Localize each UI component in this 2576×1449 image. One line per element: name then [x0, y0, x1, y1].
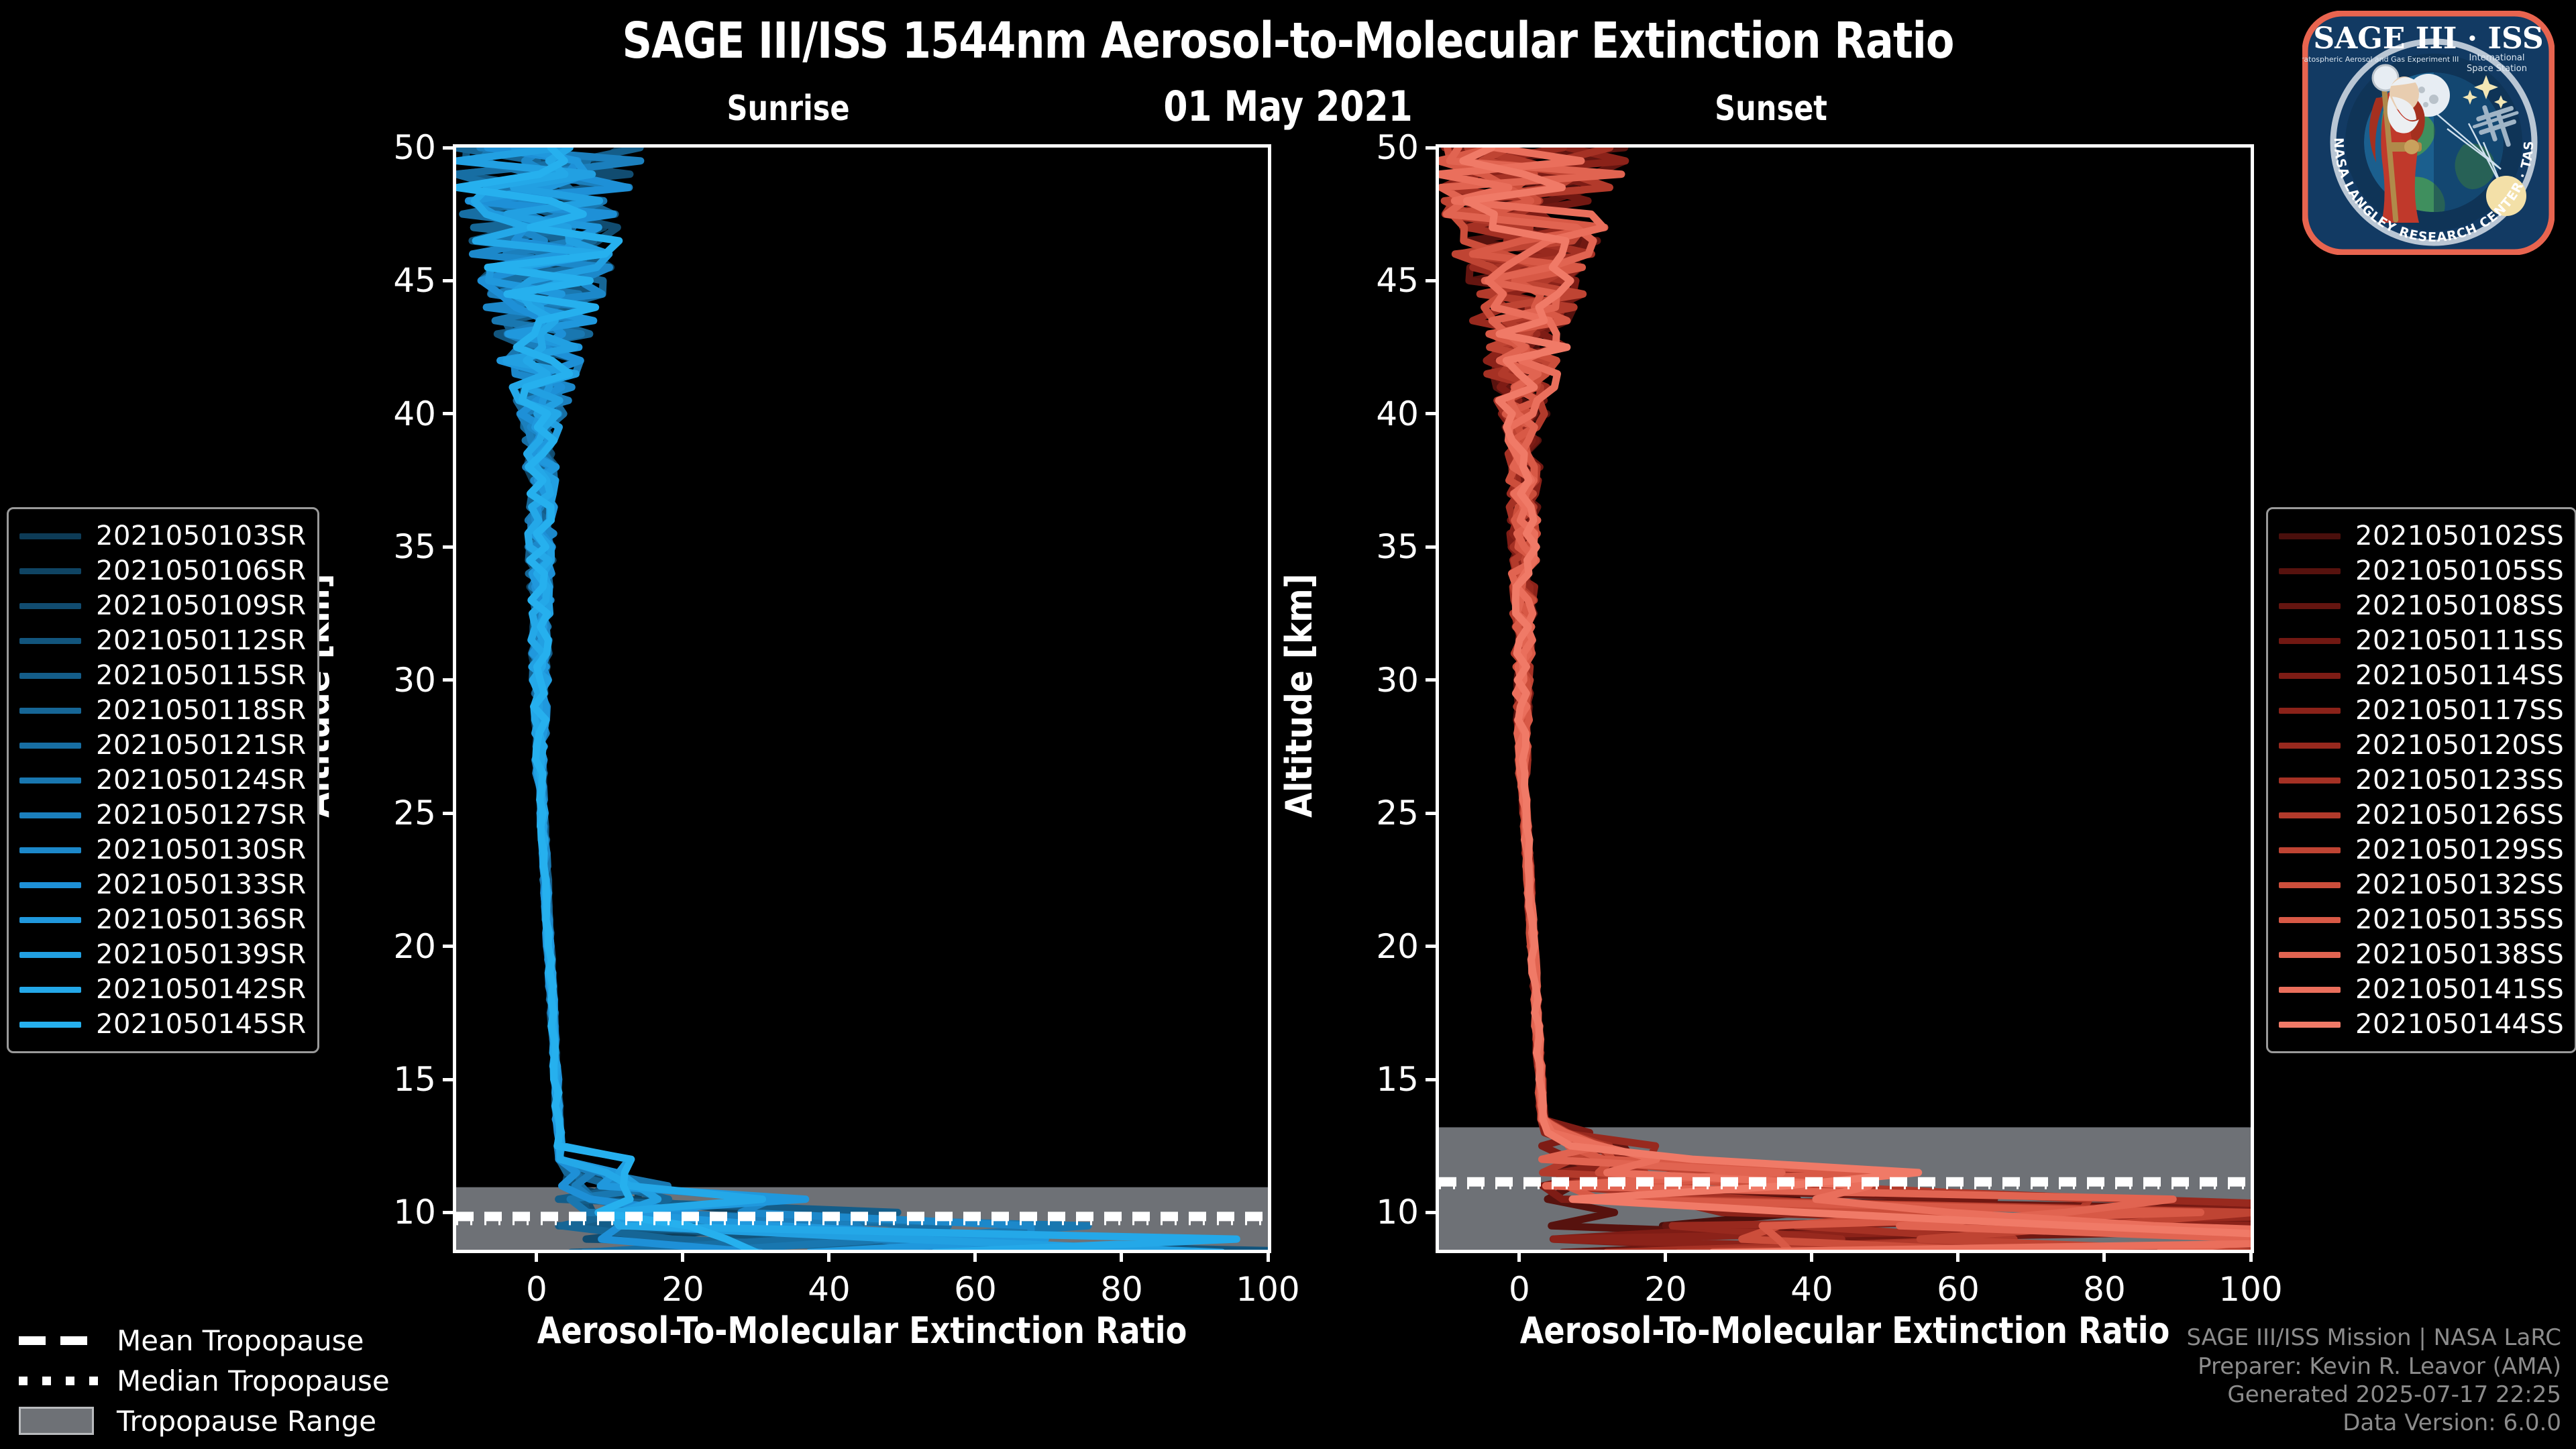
legend-color-swatch [2279, 743, 2341, 749]
y-tick-label-10: 10 [349, 1193, 436, 1232]
legend-color-swatch [19, 603, 81, 609]
y-tick-label-25: 25 [349, 794, 436, 833]
y-tick-mark [443, 412, 455, 415]
legend-item[interactable]: 2021050135SS [2279, 902, 2564, 937]
legend-series-label: 2021050142SR [96, 974, 307, 1005]
legend-series-label: 2021050103SR [96, 521, 307, 551]
legend-color-swatch [19, 777, 81, 784]
tropopause-range-label: Tropopause Range [117, 1405, 376, 1438]
y-tick-label-45: 45 [349, 261, 436, 300]
legend-item[interactable]: 2021050139SR [19, 937, 307, 972]
x-tick-mark [1664, 1250, 1667, 1262]
y-tick-mark [443, 1078, 455, 1081]
legend-color-swatch [2279, 882, 2341, 888]
x-tick-mark [1810, 1250, 1813, 1262]
legend-item[interactable]: 2021050136SR [19, 902, 307, 937]
legend-series-label: 2021050139SR [96, 939, 307, 970]
profile-line [1462, 148, 2251, 1250]
profile-line [1439, 148, 2201, 1250]
legend-series-label: 2021050133SR [96, 869, 307, 900]
legend-color-swatch [2279, 603, 2341, 609]
x-tick-mark [1267, 1250, 1270, 1262]
y-tick-label-15: 15 [349, 1060, 436, 1099]
patch-subtitle-right-line1: International [2469, 53, 2525, 63]
credits-generated: Generated 2025-07-17 22:25 [2186, 1381, 2561, 1409]
legend-item-median-tropopause: Median Tropopause [19, 1360, 390, 1401]
page-title: SAGE III/ISS 1544nm Aerosol-to-Molecular… [90, 12, 2485, 70]
legend-series-label: 2021050126SS [2355, 800, 2564, 830]
legend-series-label: 2021050118SR [96, 695, 307, 726]
legend-color-swatch [2279, 917, 2341, 923]
legend-series-label: 2021050115SR [96, 660, 307, 691]
x-tick-mark [681, 1250, 684, 1262]
y-tick-label-50: 50 [1332, 128, 1419, 167]
legend-series-label: 2021050144SS [2355, 1009, 2564, 1040]
sunset-plot-canvas [1439, 148, 2251, 1250]
patch-subtitle-right-line2: Space Station [2467, 64, 2527, 74]
legend-series-label: 2021050132SS [2355, 869, 2564, 900]
legend-item[interactable]: 2021050145SR [19, 1007, 307, 1042]
legend-color-swatch [19, 533, 81, 539]
y-tick-mark [443, 279, 455, 282]
legend-color-swatch [19, 847, 81, 853]
x-tick-label-100: 100 [1236, 1270, 1299, 1309]
credits-mission: SAGE III/ISS Mission | NASA LaRC [2186, 1324, 2561, 1352]
y-tick-label-35: 35 [1332, 527, 1419, 566]
legend-series-label: 2021050120SS [2355, 730, 2564, 761]
y-tick-mark [443, 945, 455, 948]
y-tick-label-15: 15 [1332, 1060, 1419, 1099]
legend-series-label: 2021050123SS [2355, 765, 2564, 796]
y-tick-mark [1426, 412, 1438, 415]
legend-item[interactable]: 2021050103SR [19, 519, 307, 553]
legend-item[interactable]: 2021050115SR [19, 658, 307, 693]
legend-color-swatch [2279, 708, 2341, 714]
legend-series-label: 2021050114SS [2355, 660, 2564, 691]
legend-item[interactable]: 2021050108SS [2279, 588, 2564, 623]
x-tick-mark [1120, 1250, 1123, 1262]
legend-item[interactable]: 2021050132SS [2279, 867, 2564, 902]
sunrise-x-axis-title: Aerosol-To-Molecular Extinction Ratio [474, 1309, 1251, 1352]
legend-series-label: 2021050106SR [96, 555, 307, 586]
y-tick-label-30: 30 [349, 661, 436, 700]
median-tropopause-label: Median Tropopause [117, 1364, 390, 1397]
x-tick-label-80: 80 [2083, 1270, 2126, 1309]
sunset-plot-area [1436, 144, 2254, 1253]
legend-item[interactable]: 2021050109SR [19, 588, 307, 623]
legend-item[interactable]: 2021050129SS [2279, 833, 2564, 867]
x-tick-label-20: 20 [1644, 1270, 1687, 1309]
tropopause-legend: Mean Tropopause Median Tropopause Tropop… [19, 1320, 390, 1441]
legend-item[interactable]: 2021050133SR [19, 867, 307, 902]
y-tick-mark [1426, 545, 1438, 549]
legend-color-swatch [19, 987, 81, 993]
legend-color-swatch [19, 1022, 81, 1028]
patch-title: SAGE III · ISS [2313, 21, 2543, 56]
legend-series-label: 2021050124SR [96, 765, 307, 796]
y-tick-label-30: 30 [1332, 661, 1419, 700]
profile-line [1463, 148, 2251, 1250]
x-tick-label-0: 0 [526, 1270, 547, 1309]
legend-series-label: 2021050130SR [96, 835, 307, 865]
patch-subtitle-left: Stratospheric Aerosol and Gas Experiment… [2302, 55, 2459, 64]
credits-block: SAGE III/ISS Mission | NASA LaRC Prepare… [2186, 1324, 2561, 1437]
legend-item[interactable]: 2021050117SS [2279, 693, 2564, 728]
y-tick-label-25: 25 [1332, 794, 1419, 833]
credits-data-version: Data Version: 6.0.0 [2186, 1409, 2561, 1437]
x-tick-label-60: 60 [954, 1270, 997, 1309]
legend-item[interactable]: 2021050124SR [19, 763, 307, 798]
x-tick-label-60: 60 [1937, 1270, 1980, 1309]
filled-box-icon [19, 1409, 99, 1432]
legend-item[interactable]: 2021050114SS [2279, 658, 2564, 693]
legend-color-swatch [2279, 638, 2341, 644]
sunrise-plot-canvas [456, 148, 1268, 1250]
x-tick-mark [1517, 1250, 1521, 1262]
profile-line [1458, 148, 2251, 1250]
legend-item[interactable]: 2021050142SR [19, 972, 307, 1007]
legend-series-label: 2021050141SS [2355, 974, 2564, 1005]
legend-color-swatch [19, 743, 81, 749]
sunset-panel-title: Sunset [1586, 89, 1956, 129]
legend-color-swatch [19, 638, 81, 644]
profile-line [1468, 148, 2251, 1250]
legend-series-label: 2021050108SS [2355, 590, 2564, 621]
legend-item[interactable]: 2021050118SR [19, 693, 307, 728]
y-tick-mark [1426, 678, 1438, 682]
y-tick-label-20: 20 [349, 927, 436, 966]
x-tick-label-0: 0 [1509, 1270, 1530, 1309]
legend-item-tropopause-range: Tropopause Range [19, 1401, 390, 1441]
x-tick-mark [2249, 1250, 2253, 1262]
x-tick-label-100: 100 [2218, 1270, 2282, 1309]
y-tick-mark [443, 678, 455, 682]
legend-color-swatch [2279, 812, 2341, 818]
legend-color-swatch [2279, 673, 2341, 679]
y-tick-mark [1426, 812, 1438, 815]
legend-color-swatch [19, 673, 81, 679]
x-tick-label-80: 80 [1100, 1270, 1143, 1309]
y-tick-mark [443, 146, 455, 150]
legend-item[interactable]: 2021050138SS [2279, 937, 2564, 972]
mean-tropopause-label: Mean Tropopause [117, 1324, 364, 1357]
y-tick-label-20: 20 [1332, 927, 1419, 966]
legend-color-swatch [19, 917, 81, 923]
legend-color-swatch [19, 882, 81, 888]
y-tick-label-50: 50 [349, 128, 436, 167]
x-tick-mark [973, 1250, 977, 1262]
x-tick-label-40: 40 [808, 1270, 851, 1309]
x-tick-label-20: 20 [661, 1270, 704, 1309]
legend-item[interactable]: 2021050102SS [2279, 519, 2564, 553]
legend-series-label: 2021050117SS [2355, 695, 2564, 726]
legend-color-swatch [2279, 1022, 2341, 1028]
date-subtitle: 01 May 2021 [90, 82, 2485, 131]
y-tick-mark [1426, 1211, 1438, 1214]
legend-color-swatch [19, 708, 81, 714]
legend-series-label: 2021050127SR [96, 800, 307, 830]
x-tick-label-40: 40 [1790, 1270, 1833, 1309]
legend-color-swatch [19, 812, 81, 818]
sage-iii-iss-mission-patch-logo: SAGE III · ISS Stratospheric Aerosol and… [2302, 11, 2555, 255]
legend-series-label: 2021050112SR [96, 625, 307, 656]
sunset-series-legend[interactable]: 2021050102SS2021050105SS2021050108SS2021… [2266, 507, 2576, 1053]
x-tick-mark [827, 1250, 830, 1262]
sunrise-plot-area [453, 144, 1271, 1253]
y-tick-mark [1426, 1078, 1438, 1081]
sunrise-series-legend[interactable]: 2021050103SR2021050106SR2021050109SR2021… [7, 507, 319, 1053]
x-tick-mark [535, 1250, 538, 1262]
dashed-line-icon [19, 1329, 99, 1352]
sunset-x-axis-title: Aerosol-To-Molecular Extinction Ratio [1456, 1309, 2234, 1352]
legend-color-swatch [2279, 533, 2341, 539]
legend-item[interactable]: 2021050112SR [19, 623, 307, 658]
y-tick-mark [443, 812, 455, 815]
legend-item[interactable]: 2021050120SS [2279, 728, 2564, 763]
legend-series-label: 2021050109SR [96, 590, 307, 621]
legend-item[interactable]: 2021050126SS [2279, 798, 2564, 833]
profile-line [481, 148, 1268, 1250]
legend-series-label: 2021050121SR [96, 730, 307, 761]
legend-series-label: 2021050129SS [2355, 835, 2564, 865]
legend-color-swatch [2279, 952, 2341, 958]
legend-series-label: 2021050136SR [96, 904, 307, 935]
y-tick-mark [443, 1211, 455, 1214]
profile-line [474, 148, 1236, 1250]
credits-preparer: Preparer: Kevin R. Leavor (AMA) [2186, 1352, 2561, 1381]
legend-color-swatch [19, 568, 81, 574]
y-tick-mark [443, 545, 455, 549]
y-tick-mark [1426, 279, 1438, 282]
legend-color-swatch [19, 952, 81, 958]
legend-item[interactable]: 2021050106SR [19, 553, 307, 588]
legend-series-label: 2021050111SS [2355, 625, 2564, 656]
x-tick-mark [1956, 1250, 1960, 1262]
legend-color-swatch [2279, 568, 2341, 574]
legend-item[interactable]: 2021050121SR [19, 728, 307, 763]
y-tick-label-35: 35 [349, 527, 436, 566]
legend-series-label: 2021050138SS [2355, 939, 2564, 970]
y-tick-label-40: 40 [1332, 394, 1419, 433]
legend-item-mean-tropopause: Mean Tropopause [19, 1320, 390, 1360]
y-tick-label-10: 10 [1332, 1193, 1419, 1232]
x-tick-mark [2102, 1250, 2106, 1262]
y-tick-label-45: 45 [1332, 261, 1419, 300]
legend-item[interactable]: 2021050141SS [2279, 972, 2564, 1007]
legend-item[interactable]: 2021050111SS [2279, 623, 2564, 658]
legend-series-label: 2021050105SS [2355, 555, 2564, 586]
legend-color-swatch [2279, 777, 2341, 784]
sunset-y-axis-title: Altitude [km] [1278, 574, 1320, 818]
legend-color-swatch [2279, 987, 2341, 993]
y-tick-mark [1426, 146, 1438, 150]
y-tick-label-40: 40 [349, 394, 436, 433]
dotted-line-icon [19, 1369, 99, 1392]
legend-color-swatch [2279, 847, 2341, 853]
legend-item[interactable]: 2021050123SS [2279, 763, 2564, 798]
sunrise-panel-title: Sunrise [603, 89, 973, 129]
legend-item[interactable]: 2021050144SS [2279, 1007, 2564, 1042]
legend-series-label: 2021050102SS [2355, 521, 2564, 551]
legend-series-label: 2021050135SS [2355, 904, 2564, 935]
legend-item[interactable]: 2021050105SS [2279, 553, 2564, 588]
legend-series-label: 2021050145SR [96, 1009, 307, 1040]
legend-item[interactable]: 2021050130SR [19, 833, 307, 867]
legend-item[interactable]: 2021050127SR [19, 798, 307, 833]
y-tick-mark [1426, 945, 1438, 948]
